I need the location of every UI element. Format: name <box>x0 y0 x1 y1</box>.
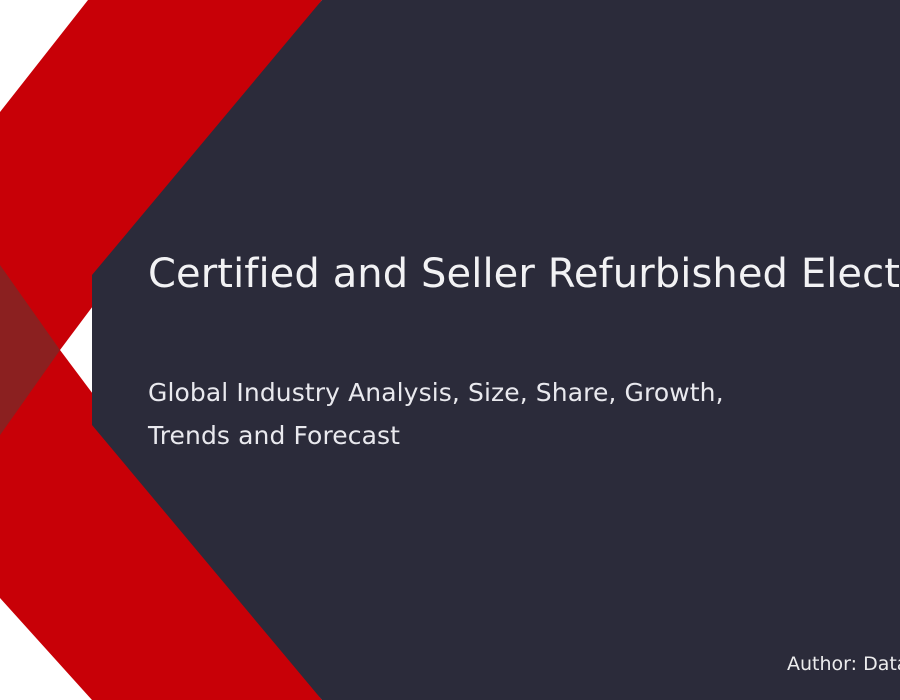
subtitle-line-1: Global Industry Analysis, Size, Share, G… <box>148 371 868 414</box>
subtitle-line-2: Trends and Forecast <box>148 414 868 457</box>
author-block: Author: Data <box>787 650 900 678</box>
author-label: Author: Data <box>787 650 900 678</box>
page-title: Certified and Seller Refurbished Electro… <box>148 252 900 297</box>
title-block: Certified and Seller Refurbished Electro… <box>148 252 900 297</box>
subtitle-block: Global Industry Analysis, Size, Share, G… <box>148 371 868 457</box>
title-slide: Certified and Seller Refurbished Electro… <box>0 0 900 700</box>
slide-text-layer: Certified and Seller Refurbished Electro… <box>0 0 900 700</box>
